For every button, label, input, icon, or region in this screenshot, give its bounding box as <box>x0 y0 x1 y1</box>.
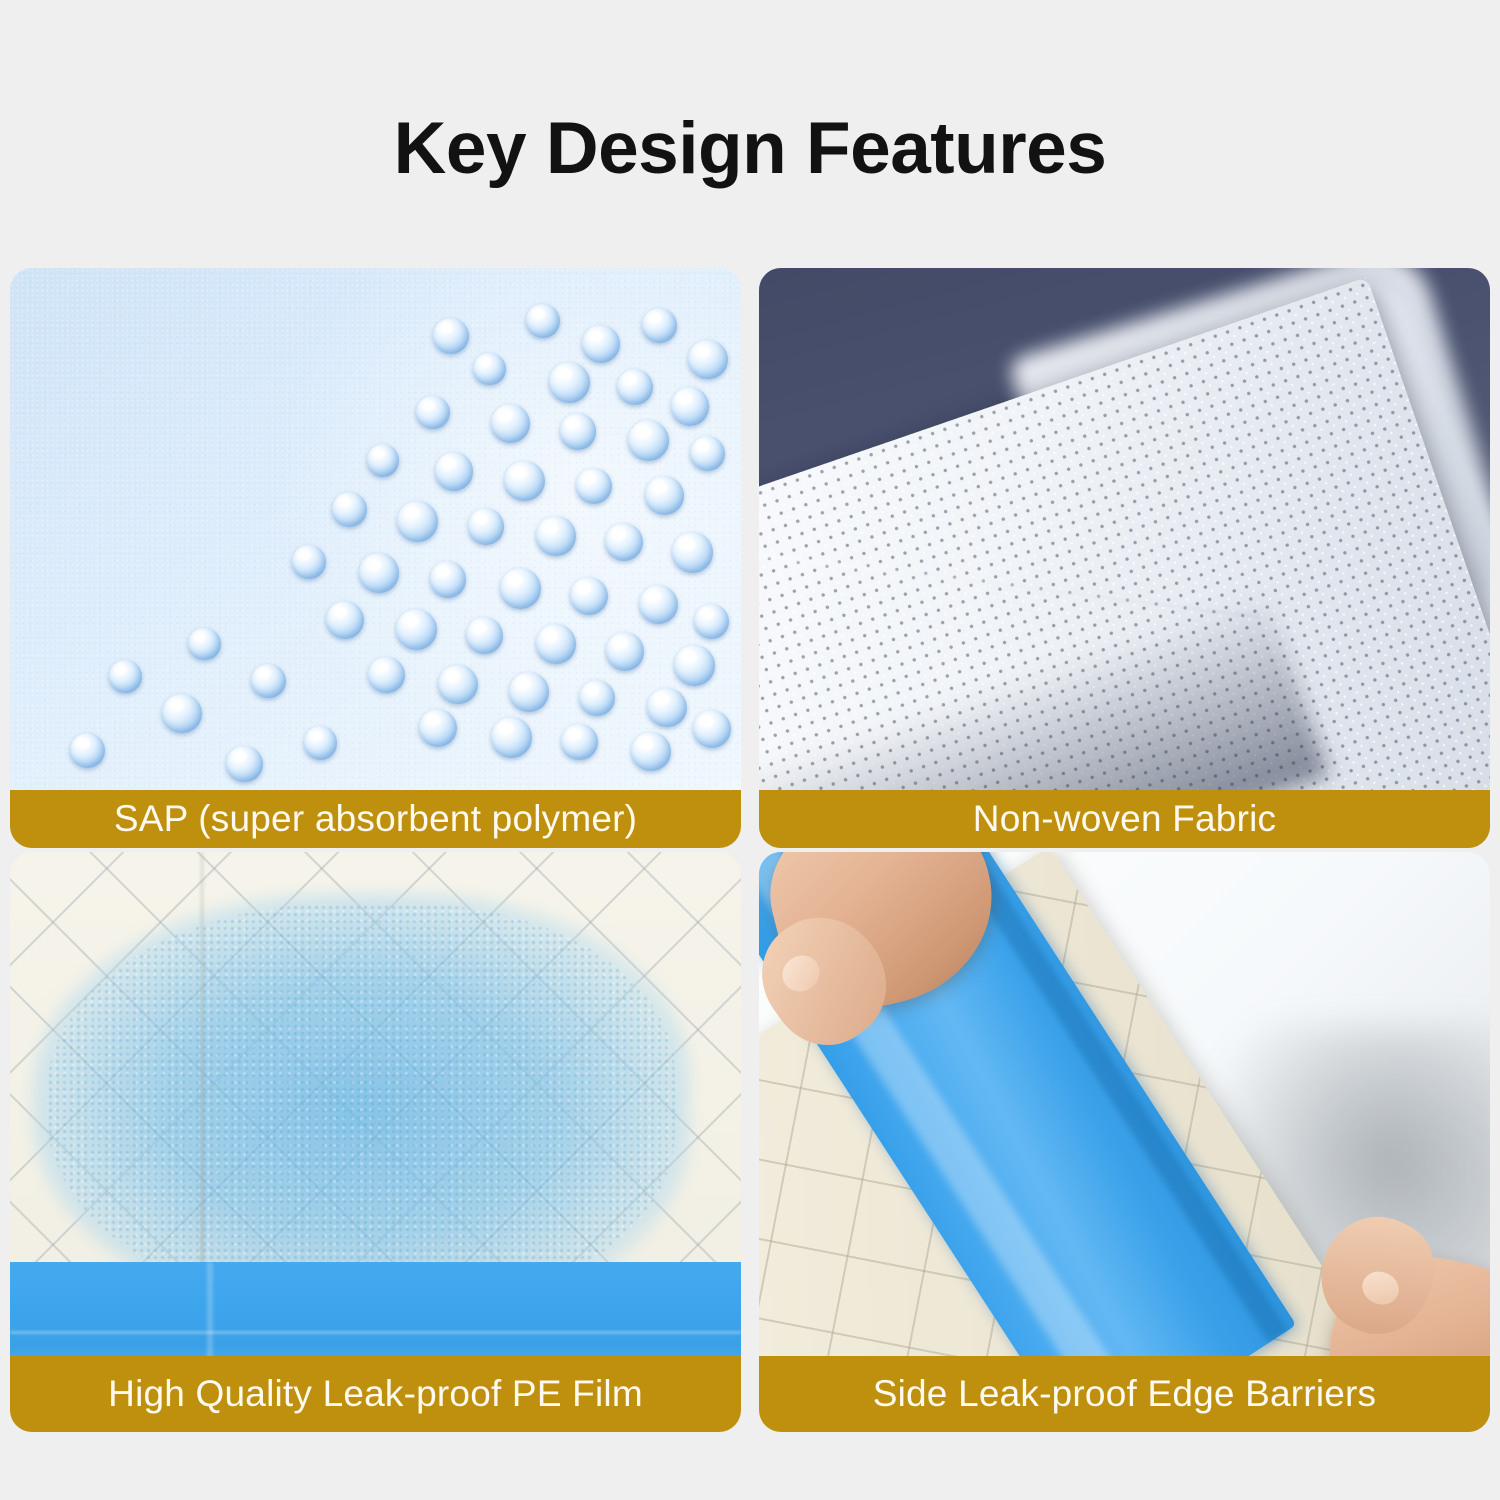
polymer-bead <box>468 508 505 545</box>
polymer-bead <box>188 628 220 660</box>
polymer-bead <box>292 545 326 579</box>
polymer-bead <box>672 532 713 573</box>
page-title: Key Design Features <box>0 112 1500 185</box>
polymer-bead <box>645 476 684 515</box>
polymer-bead <box>582 325 620 363</box>
polymer-bead <box>536 516 575 555</box>
feature-card-sap[interactable]: SAP (super absorbent polymer) <box>10 268 741 848</box>
polymer-bead <box>473 353 505 385</box>
sap-photo <box>10 268 741 848</box>
non-woven-fabric-photo <box>759 268 1490 848</box>
polymer-bead <box>332 492 367 527</box>
polymer-bead <box>397 501 438 542</box>
polymer-bead <box>438 665 477 704</box>
pe-core-fiber-texture <box>47 904 676 1310</box>
polymer-bead <box>642 308 677 343</box>
polymer-bead <box>435 452 473 490</box>
polymer-bead <box>430 561 467 598</box>
polymer-bead <box>549 362 590 403</box>
feature-label-sap: SAP (super absorbent polymer) <box>10 790 741 848</box>
pe-film-photo <box>10 852 741 1432</box>
polymer-bead <box>500 568 541 609</box>
polymer-bead <box>368 657 405 694</box>
polymer-bead <box>162 694 201 733</box>
polymer-bead <box>561 724 598 761</box>
polymer-bead <box>491 717 532 758</box>
feature-card-edge-barriers[interactable]: Side Leak-proof Edge Barriers <box>759 852 1490 1432</box>
feature-grid: SAP (super absorbent polymer) Non-woven … <box>10 268 1490 1432</box>
polymer-bead <box>359 553 398 592</box>
polymer-bead <box>396 609 437 650</box>
polymer-bead <box>631 732 670 771</box>
polymer-bead <box>416 396 450 430</box>
polymer-bead <box>326 601 364 639</box>
polymer-bead <box>70 733 105 768</box>
feature-label-edge-barriers: Side Leak-proof Edge Barriers <box>759 1356 1490 1432</box>
polymer-bead <box>639 585 678 624</box>
feature-label-non-woven-fabric: Non-woven Fabric <box>759 790 1490 848</box>
polymer-bead <box>606 632 644 670</box>
polymer-bead <box>560 413 597 450</box>
polymer-bead <box>226 746 263 783</box>
feature-label-pe-film: High Quality Leak-proof PE Film <box>10 1356 741 1432</box>
edge-barriers-photo <box>759 852 1490 1432</box>
polymer-bead <box>690 436 725 471</box>
polymer-bead <box>570 577 608 615</box>
polymer-bead <box>304 726 338 760</box>
polymer-bead <box>504 461 545 502</box>
polymer-bead <box>367 444 399 476</box>
infographic-page: Key Design Features <box>0 0 1500 1500</box>
polymer-bead <box>628 420 669 461</box>
polymer-bead <box>688 340 727 379</box>
polymer-bead <box>466 617 503 654</box>
polymer-bead <box>693 710 731 748</box>
polymer-bead <box>526 304 560 338</box>
polymer-bead <box>674 645 715 686</box>
polymer-bead <box>109 660 141 692</box>
polymer-bead <box>536 624 575 663</box>
feature-card-pe-film[interactable]: High Quality Leak-proof PE Film <box>10 852 741 1432</box>
polymer-bead <box>576 468 613 505</box>
feature-card-non-woven-fabric[interactable]: Non-woven Fabric <box>759 268 1490 848</box>
polymer-bead <box>671 387 709 425</box>
polymer-bead <box>647 688 686 727</box>
pe-film-highlight <box>10 1331 741 1334</box>
